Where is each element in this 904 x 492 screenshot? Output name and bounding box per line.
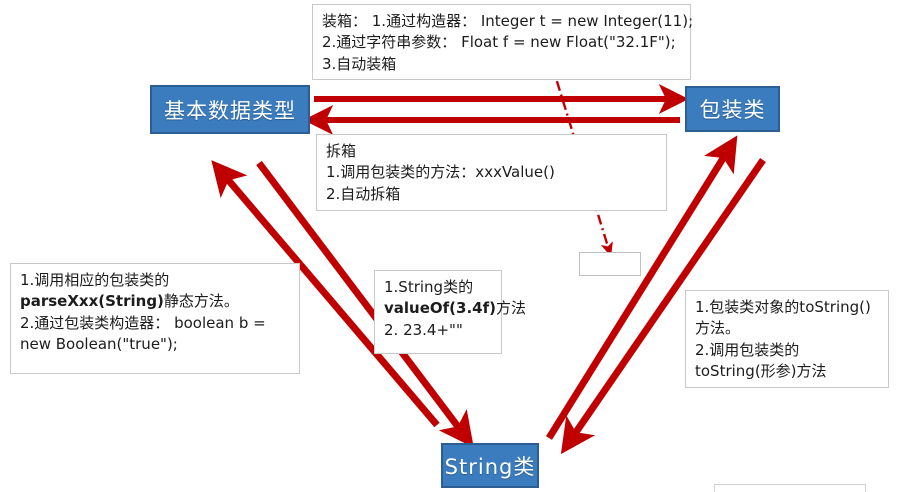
note-primitive-to-string-line-3: 2. 23.4+"" bbox=[384, 320, 492, 341]
node-wrapper-class-label: 包装类 bbox=[700, 94, 766, 124]
note-string-to-primitive-line-2: parseXxx(String)静态方法。 bbox=[20, 291, 290, 312]
parse-xxx-method: parseXxx(String) bbox=[20, 292, 164, 310]
note-unboxing-line-3: 2.自动拆箱 bbox=[326, 184, 657, 205]
node-primitive-type[interactable]: 基本数据类型 bbox=[150, 85, 310, 134]
note-wrapper-to-string-line-4: toString(形参)方法 bbox=[695, 361, 879, 382]
note-unboxing-line-2: 1.调用包装类的方法：xxxValue() bbox=[326, 162, 657, 183]
note-string-to-primitive: 1.调用相应的包装类的 parseXxx(String)静态方法。 2.通过包装… bbox=[10, 263, 300, 374]
note-string-to-primitive-line-4: new Boolean("true"); bbox=[20, 334, 290, 355]
node-string-class-label: String类 bbox=[445, 451, 536, 481]
note-boxing-line-3: 3.自动装箱 bbox=[322, 54, 681, 75]
note-unboxing-line-1: 拆箱 bbox=[326, 141, 657, 162]
corner-placeholder-box bbox=[714, 484, 866, 492]
node-string-class[interactable]: String类 bbox=[441, 443, 539, 488]
diagram-canvas: 基本数据类型 包装类 String类 装箱： 1.通过构造器： Integer … bbox=[0, 0, 904, 492]
parse-xxx-suffix: 静态方法。 bbox=[164, 292, 239, 310]
empty-placeholder-box[interactable] bbox=[579, 252, 641, 276]
note-string-to-primitive-line-1: 1.调用相应的包装类的 bbox=[20, 270, 290, 291]
note-boxing-line-1: 装箱： 1.通过构造器： Integer t = new Integer(11)… bbox=[322, 11, 681, 32]
note-string-to-primitive-line-3: 2.通过包装类构造器： boolean b = bbox=[20, 313, 290, 334]
note-wrapper-to-string-line-3: 2.调用包装类的 bbox=[695, 340, 879, 361]
note-wrapper-to-string-line-1: 1.包装类对象的toString() bbox=[695, 297, 879, 318]
note-boxing-line-2: 2.通过字符串参数： Float f = new Float("32.1F"); bbox=[322, 32, 681, 53]
node-primitive-type-label: 基本数据类型 bbox=[164, 95, 296, 125]
note-primitive-to-string-line-2: valueOf(3.4f)方法 bbox=[384, 298, 492, 319]
note-primitive-to-string: 1.String类的 valueOf(3.4f)方法 2. 23.4+"" bbox=[374, 270, 502, 354]
node-wrapper-class[interactable]: 包装类 bbox=[685, 86, 780, 132]
note-primitive-to-string-line-1: 1.String类的 bbox=[384, 277, 492, 298]
note-wrapper-to-string-line-2: 方法。 bbox=[695, 318, 879, 339]
note-boxing: 装箱： 1.通过构造器： Integer t = new Integer(11)… bbox=[312, 4, 691, 80]
value-of-suffix: 方法 bbox=[496, 299, 526, 317]
note-wrapper-to-string: 1.包装类对象的toString() 方法。 2.调用包装类的 toString… bbox=[685, 290, 889, 388]
note-unboxing: 拆箱 1.调用包装类的方法：xxxValue() 2.自动拆箱 bbox=[316, 134, 667, 211]
value-of-method: valueOf(3.4f) bbox=[384, 299, 496, 317]
